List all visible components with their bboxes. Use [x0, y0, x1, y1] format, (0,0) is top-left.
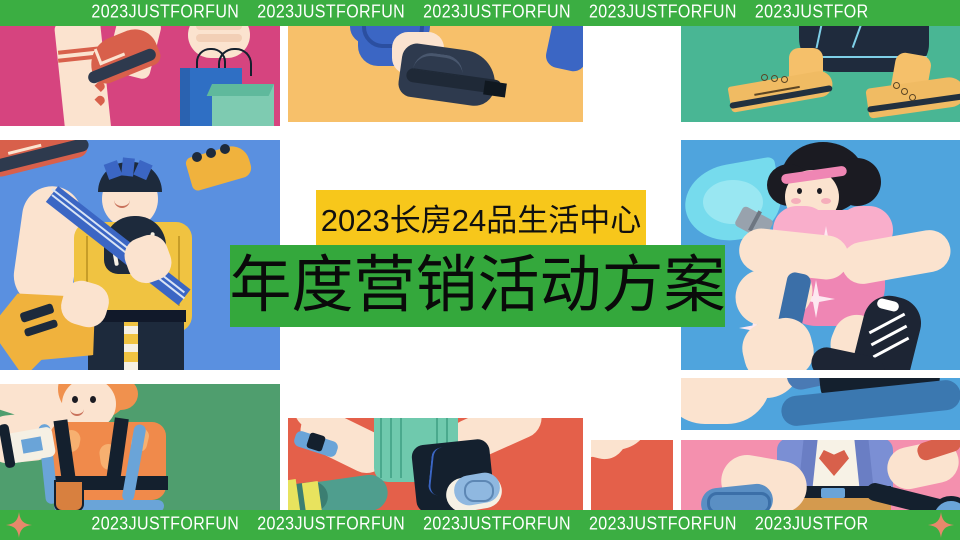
bottom-marquee-banner: 2023JUSTFORFUN2023JUSTFORFUN2023JUSTFORF…: [0, 510, 960, 540]
presentation-slide: 2023长房24品生活中心 年度营销活动方案 2023JUSTFORFUN202…: [0, 0, 960, 540]
banner-word: 2023JUSTFORFUN: [91, 514, 239, 534]
banner-word: 2023JUSTFORFUN: [589, 514, 737, 534]
banner-word: 2023JUSTFORFUN: [257, 2, 405, 22]
background-collage: [0, 0, 960, 540]
sparkle-icon: [928, 512, 954, 538]
tile-girl-with-backpack: [0, 384, 280, 510]
tile-walking-legs-dark-shoes: [288, 26, 583, 122]
banner-word: 2023JUSTFORFUN: [589, 2, 737, 22]
banner-word: 2023JUSTFOR: [755, 514, 869, 534]
tile-seated-person-arms-open: [288, 418, 583, 510]
sparkle-icon: [6, 512, 32, 538]
bottom-banner-text: 2023JUSTFORFUN2023JUSTFORFUN2023JUSTFORF…: [82, 514, 877, 535]
tile-strolling-legs-tan-shoes: [681, 26, 960, 122]
top-marquee-banner: 2023JUSTFORFUN2023JUSTFORFUN2023JUSTFORF…: [0, 0, 960, 26]
top-banner-text: 2023JUSTFORFUN2023JUSTFORFUN2023JUSTFORF…: [82, 2, 877, 23]
banner-word: 2023JUSTFOR: [755, 2, 869, 22]
tile-skateboarder-legs: [681, 378, 960, 430]
tile-cheerleader-with-pompom: [681, 140, 960, 370]
tile-guitarist-rock-player: [0, 140, 280, 370]
banner-word: 2023JUSTFORFUN: [423, 514, 571, 534]
banner-word: 2023JUSTFORFUN: [423, 2, 571, 22]
tile-runner-with-shopping-bags: [0, 26, 280, 126]
tile-reaching-hand: [591, 440, 673, 510]
banner-word: 2023JUSTFORFUN: [91, 2, 239, 22]
tile-person-in-bucket-hat: [681, 440, 960, 510]
banner-word: 2023JUSTFORFUN: [257, 514, 405, 534]
